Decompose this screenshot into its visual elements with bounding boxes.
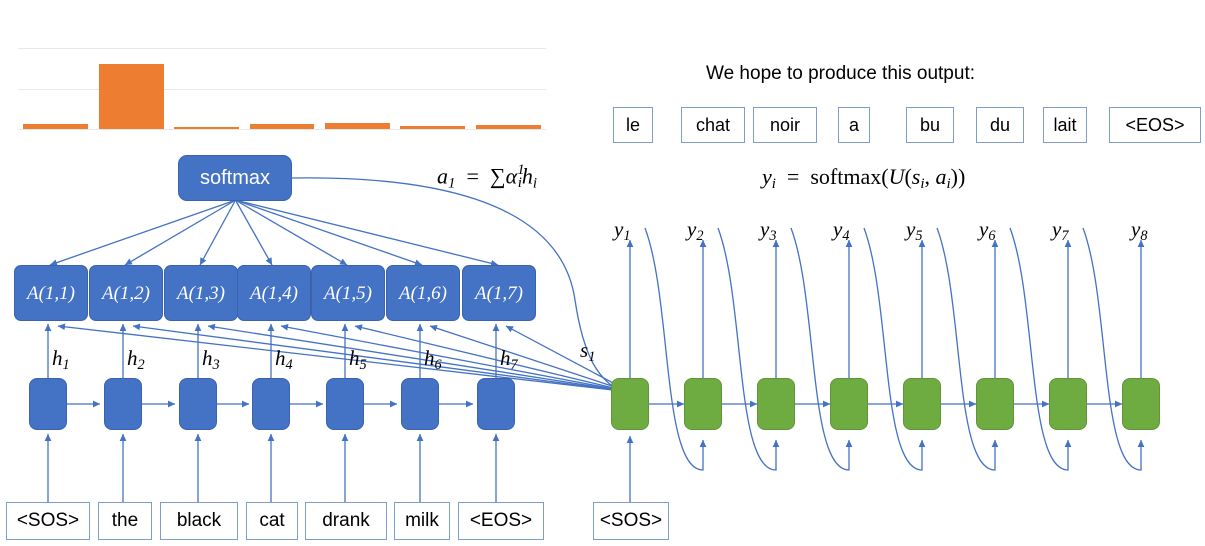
- decoder-output-label-2: y2: [687, 219, 703, 243]
- attention-box-label: A(1,4): [250, 284, 298, 303]
- encoder-cell-7[interactable]: [477, 378, 515, 430]
- hidden-state-subscript: 3: [213, 357, 220, 373]
- hidden-state-base: h: [500, 346, 511, 370]
- encoder-input-word-box-2[interactable]: the: [98, 502, 152, 540]
- attention-box-label: A(1,3): [177, 284, 225, 303]
- decoder-output-label-5: y5: [906, 219, 922, 243]
- encoder-input-word-label: black: [177, 510, 221, 532]
- decoder-output-base: y: [760, 217, 769, 241]
- hidden-state-base: h: [275, 346, 286, 370]
- decoder-output-label-1: y1: [614, 219, 630, 243]
- word-box-stems: [48, 488, 630, 502]
- chart-bar: [250, 124, 315, 129]
- chart-baseline: [18, 129, 546, 130]
- decoder-cell-1[interactable]: [611, 378, 649, 430]
- encoder-cell-6[interactable]: [401, 378, 439, 430]
- chart-bar-slot: [320, 48, 395, 129]
- decoder-output-subscript: 5: [915, 228, 922, 244]
- hidden-state-base: h: [52, 346, 63, 370]
- chart-bar: [400, 126, 465, 129]
- attention-box-5[interactable]: A(1,5): [311, 265, 385, 321]
- attention-formula: a1 = ∑α1ihi: [437, 163, 537, 191]
- encoder-input-word-label: <EOS>: [470, 510, 532, 532]
- decoder-output-label-7: y7: [1052, 219, 1068, 243]
- hidden-state-subscript: 2: [138, 357, 145, 373]
- hidden-state-base: h: [349, 346, 360, 370]
- encoder-input-word-box-1[interactable]: <SOS>: [6, 502, 90, 540]
- decoder-output-subscript: 8: [1140, 228, 1147, 244]
- attention-box-label: A(1,5): [324, 284, 372, 303]
- hidden-state-base: h: [202, 346, 213, 370]
- hidden-state-label-3: h3: [202, 348, 220, 372]
- decoder-output-base: y: [833, 217, 842, 241]
- attention-box-label: A(1,7): [475, 284, 523, 303]
- hidden-state-subscript: 5: [360, 357, 367, 373]
- hidden-state-subscript: 4: [286, 357, 293, 373]
- attention-box-label: A(1,2): [102, 284, 150, 303]
- encoder-input-edges: [48, 434, 496, 502]
- decoder-cell-8[interactable]: [1122, 378, 1160, 430]
- expected-output-word-box-8[interactable]: <EOS>: [1109, 107, 1201, 143]
- decoder-output-label-6: y6: [979, 219, 995, 243]
- decoder-output-base: y: [979, 217, 988, 241]
- decoder-feedback-curves: [645, 228, 1141, 470]
- expected-output-word-label: chat: [696, 115, 730, 136]
- softmax-node[interactable]: softmax: [178, 155, 292, 201]
- expected-output-word-box-5[interactable]: bu: [906, 107, 954, 143]
- encoder-input-word-label: drank: [322, 510, 370, 532]
- encoder-input-word-box-6[interactable]: milk: [394, 502, 450, 540]
- hidden-state-subscript: 1: [63, 357, 70, 373]
- encoder-input-word-label: cat: [259, 510, 284, 532]
- expected-output-word-label: du: [990, 115, 1010, 136]
- attention-box-6[interactable]: A(1,6): [386, 265, 460, 321]
- encoder-input-word-label: <SOS>: [17, 510, 79, 532]
- chart-bar-slot: [169, 48, 244, 129]
- encoder-input-word-box-4[interactable]: cat: [246, 502, 298, 540]
- encoder-input-word-label: milk: [405, 510, 439, 532]
- decoder-output-label-8: y8: [1131, 219, 1147, 243]
- diagram-canvas: softmax A(1,1)A(1,2)A(1,3)A(1,4)A(1,5)A(…: [0, 0, 1205, 546]
- expected-output-word-label: <EOS>: [1125, 115, 1184, 136]
- expected-output-word-box-2[interactable]: chat: [681, 107, 745, 143]
- chart-bar: [174, 127, 239, 130]
- decoder-output-base: y: [1052, 217, 1061, 241]
- hidden-state-subscript: 7: [511, 357, 518, 373]
- attention-box-4[interactable]: A(1,4): [237, 265, 311, 321]
- hidden-state-label-7: h7: [500, 348, 518, 372]
- decoder-output-base: y: [1131, 217, 1140, 241]
- decoder-cell-6[interactable]: [976, 378, 1014, 430]
- output-formula: yi = softmax(U(si, ai)): [762, 166, 965, 192]
- attention-box-2[interactable]: A(1,2): [89, 265, 163, 321]
- decoder-output-subscript: 2: [696, 228, 703, 244]
- attention-bar-chart: [18, 48, 546, 130]
- chart-bar-slot: [93, 48, 168, 129]
- decoder-cell-4[interactable]: [830, 378, 868, 430]
- decoder-output-base: y: [906, 217, 915, 241]
- decoder-input-word-box[interactable]: <SOS>: [593, 502, 669, 540]
- expected-output-word-box-1[interactable]: le: [613, 107, 653, 143]
- chart-bar: [99, 64, 164, 129]
- output-section-caption: We hope to produce this output:: [706, 63, 975, 85]
- chart-bar: [325, 123, 390, 129]
- attention-box-1[interactable]: A(1,1): [14, 265, 88, 321]
- chart-bar: [23, 124, 88, 129]
- expected-output-word-box-7[interactable]: lait: [1043, 107, 1087, 143]
- hidden-state-base: h: [424, 346, 435, 370]
- chart-bar-slot: [18, 48, 93, 129]
- encoder-cell-1[interactable]: [29, 378, 67, 430]
- expected-output-word-label: noir: [770, 115, 800, 136]
- encoder-cell-3[interactable]: [179, 378, 217, 430]
- encoder-input-word-box-7[interactable]: <EOS>: [458, 502, 544, 540]
- decoder-cell-5[interactable]: [903, 378, 941, 430]
- expected-output-word-box-6[interactable]: du: [976, 107, 1024, 143]
- attention-box-label: A(1,1): [27, 284, 75, 303]
- hidden-state-label-1: h1: [52, 348, 70, 372]
- attention-box-3[interactable]: A(1,3): [164, 265, 238, 321]
- decoder-output-base: y: [687, 217, 696, 241]
- encoder-cell-4[interactable]: [252, 378, 290, 430]
- softmax-label: softmax: [200, 168, 270, 188]
- expected-output-word-box-4[interactable]: a: [838, 107, 870, 143]
- hidden-state-label-5: h5: [349, 348, 367, 372]
- decoder-input-word-label: <SOS>: [600, 510, 662, 532]
- attention-box-7[interactable]: A(1,7): [462, 265, 536, 321]
- expected-output-word-label: le: [626, 115, 640, 136]
- hidden-state-label-4: h4: [275, 348, 293, 372]
- hidden-state-base: h: [127, 346, 138, 370]
- decoder-cell-2[interactable]: [684, 378, 722, 430]
- chart-bars: [18, 48, 546, 129]
- softmax-to-attention-edges: [50, 201, 498, 265]
- decoder-output-label-4: y4: [833, 219, 849, 243]
- hidden-state-subscript: 6: [435, 357, 442, 373]
- expected-output-word-label: a: [849, 115, 859, 136]
- chart-bar-slot: [395, 48, 470, 129]
- hidden-state-label-2: h2: [127, 348, 145, 372]
- encoder-cell-2[interactable]: [104, 378, 142, 430]
- expected-output-word-label: bu: [920, 115, 940, 136]
- chart-bar: [476, 125, 541, 129]
- decoder-output-base: y: [614, 217, 623, 241]
- encoder-input-word-box-3[interactable]: black: [160, 502, 238, 540]
- encoder-cell-5[interactable]: [326, 378, 364, 430]
- encoder-input-word-box-5[interactable]: drank: [305, 502, 387, 540]
- chart-bar-slot: [244, 48, 319, 129]
- expected-output-word-label: lait: [1053, 115, 1076, 136]
- encoder-input-word-label: the: [112, 510, 138, 532]
- decoder-cell-7[interactable]: [1049, 378, 1087, 430]
- decoder-cell-3[interactable]: [757, 378, 795, 430]
- decoder-output-subscript: 7: [1061, 228, 1068, 244]
- decoder-output-edges: [630, 240, 1141, 378]
- decoder-output-subscript: 3: [769, 228, 776, 244]
- decoder-output-subscript: 1: [623, 228, 630, 244]
- decoder-output-subscript: 6: [988, 228, 995, 244]
- decoder-output-subscript: 4: [842, 228, 849, 244]
- attention-box-label: A(1,6): [399, 284, 447, 303]
- decoder-state-label: s1: [580, 340, 595, 364]
- decoder-output-label-3: y3: [760, 219, 776, 243]
- hidden-state-label-6: h6: [424, 348, 442, 372]
- chart-bar-slot: [471, 48, 546, 129]
- expected-output-word-box-3[interactable]: noir: [753, 107, 817, 143]
